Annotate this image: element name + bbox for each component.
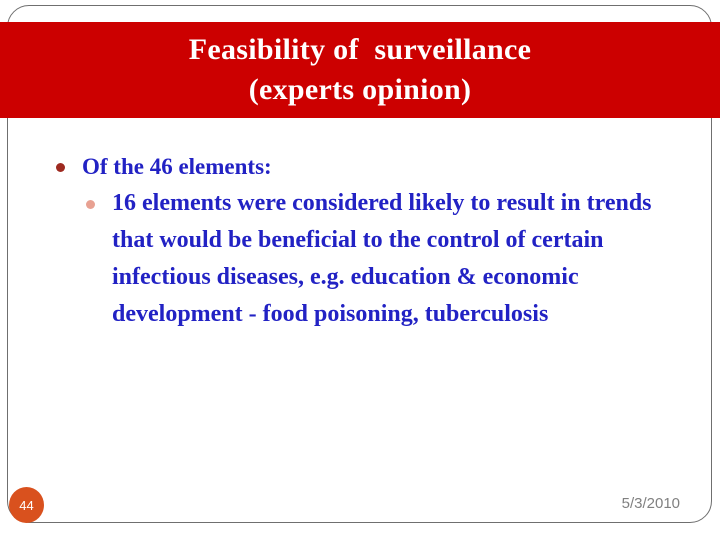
sub-bullet-dot-icon (86, 200, 95, 209)
bullet-item-level1: Of the 46 elements: (0, 150, 720, 183)
bullet-text-level2: 16 elements were considered likely to re… (112, 185, 657, 333)
slide-title-line-1: Feasibility of surveillance (189, 30, 532, 70)
bullet-text-level1: Of the 46 elements: (82, 150, 272, 183)
slide-title-line-2: (experts opinion) (249, 70, 472, 110)
slide-canvas: Feasibility of surveillance (experts opi… (0, 0, 720, 540)
bullet-dot-icon (56, 163, 65, 172)
slide-number-badge: 44 (9, 487, 44, 523)
slide-body: Of the 46 elements: 16 elements were con… (0, 150, 720, 333)
bullet-item-level2: 16 elements were considered likely to re… (0, 185, 720, 333)
footer-date: 5/3/2010 (622, 495, 680, 512)
title-banner: Feasibility of surveillance (experts opi… (0, 22, 720, 118)
